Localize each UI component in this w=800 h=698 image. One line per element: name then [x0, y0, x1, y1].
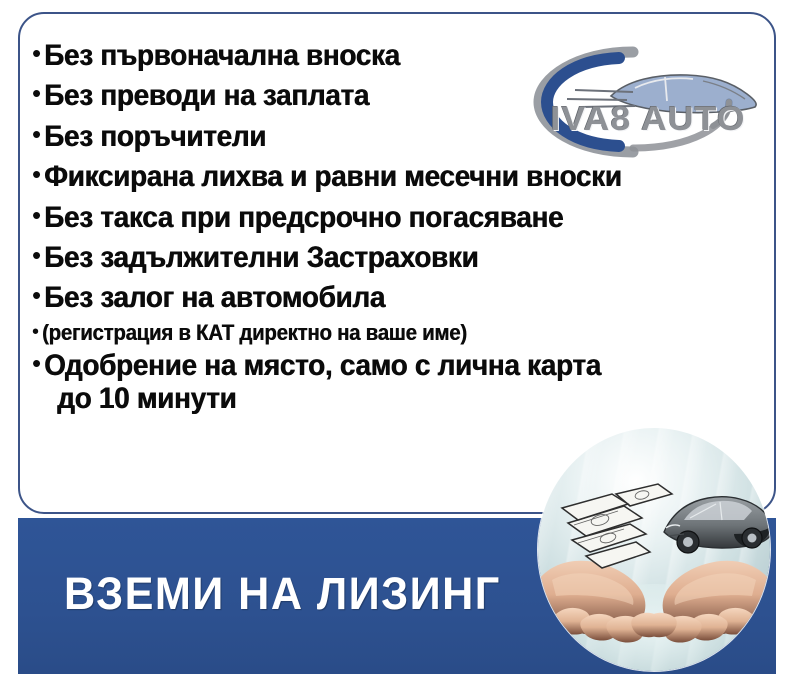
list-item-label: Без поръчители — [44, 121, 266, 153]
bullet-dot-icon: • — [32, 283, 41, 308]
list-item-label: Без такса при предсрочно погасяване — [44, 202, 563, 234]
list-item-label: Без първоначална вноска — [44, 40, 400, 72]
bullet-dot-icon: • — [32, 41, 41, 66]
list-item-label-continuation: до 10 минути — [44, 383, 601, 415]
list-item-label: Без залог на автомобила — [44, 282, 385, 314]
photo-contents-icon — [538, 428, 770, 671]
bullet-dot-icon: • — [32, 203, 41, 228]
banknotes-sketch — [562, 484, 672, 568]
bullet-dot-icon: • — [32, 243, 41, 268]
list-item-label: Без преводи на заплата — [44, 80, 369, 112]
list-item-label: (регистрация в КАТ директно на ваше име) — [42, 321, 467, 345]
list-item-label: Одобрение на място, само с лична карта — [44, 349, 601, 382]
list-item: • Без първоначална вноска — [32, 40, 774, 72]
list-item: • Без задължителни Застраховки — [32, 242, 774, 274]
list-item: • Без поръчители — [32, 121, 774, 153]
bullet-dot-icon: • — [32, 323, 39, 342]
list-item-label-wrap: Одобрение на място, само с лична карта д… — [44, 350, 601, 415]
car-sketch — [664, 497, 770, 553]
banner-title: ВЗЕМИ НА ЛИЗИНГ — [64, 568, 501, 620]
left-hand — [538, 561, 663, 643]
list-item-label: Без задължителни Застраховки — [44, 242, 478, 274]
list-item: • Без залог на автомобила — [32, 282, 774, 314]
list-item-note: • (регистрация в КАТ директно на ваше им… — [32, 321, 774, 345]
list-item: • Одобрение на място, само с лична карта… — [32, 350, 774, 415]
list-item: • Без преводи на заплата — [32, 80, 774, 112]
list-item: • Фиксирана лихва и равни месечни вноски — [32, 161, 774, 193]
bullet-dot-icon: • — [32, 122, 41, 147]
right-hand — [645, 561, 770, 643]
list-item-label: Фиксирана лихва и равни месечни вноски — [44, 161, 622, 193]
bullet-dot-icon: • — [32, 162, 41, 187]
bullet-dot-icon: • — [32, 81, 41, 106]
list-item: • Без такса при предсрочно погасяване — [32, 202, 774, 234]
hands-money-car-photo — [538, 428, 770, 671]
benefits-list: • Без първоначална вноска • Без преводи … — [32, 28, 774, 419]
poster-root: • Без първоначална вноска • Без преводи … — [0, 0, 800, 698]
bullet-dot-icon: • — [32, 351, 41, 376]
